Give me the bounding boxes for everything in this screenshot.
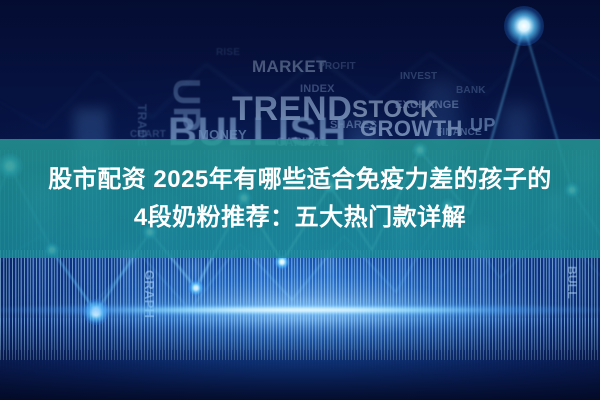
banner-title-line-1: 股市配资 2025年有哪些适合免疫力差的孩子的 xyxy=(48,161,552,199)
banner-title-line-2: 4段奶粉推荐：五大热门款详解 xyxy=(134,199,466,237)
stock-banner-image: TRENDMARKETSTOCKBULLISHGROWTHUPUPMONEYEX… xyxy=(0,0,600,400)
title-band: 股市配资 2025年有哪些适合免疫力差的孩子的 4段奶粉推荐：五大热门款详解 xyxy=(0,139,600,258)
